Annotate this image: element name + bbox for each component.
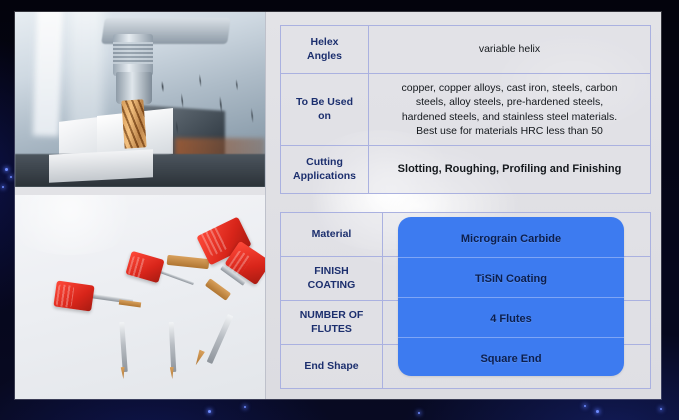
row-value-number-of-flutes: 4 Flutes xyxy=(398,297,624,341)
end-mill-cutting-tip xyxy=(193,349,205,366)
spec-column: Helex Angles variable helix To Be Used o… xyxy=(266,12,661,399)
row-value-cutting-applications: Slotting, Roughing, Profiling and Finish… xyxy=(369,146,651,194)
sparkle-decoration xyxy=(2,186,4,188)
row-label-to-be-used-on: To Be Used on xyxy=(281,74,369,146)
end-mill-cap-ribs xyxy=(56,284,75,308)
helix-spec-table: Helex Angles variable helix To Be Used o… xyxy=(280,25,651,194)
sparkle-decoration xyxy=(660,408,662,410)
end-mill-product-photo xyxy=(15,195,265,399)
row-value-end-shape: Square End xyxy=(398,337,624,381)
row-value-to-be-used-on: copper, copper alloys, cast iron, steels… xyxy=(369,74,651,146)
sparkle-decoration xyxy=(244,406,246,408)
table-row: To Be Used on copper, copper alloys, cas… xyxy=(281,74,651,146)
workpiece-clamp xyxy=(49,149,153,182)
row-label-material: Material xyxy=(281,213,383,257)
table-row: Helex Angles variable helix xyxy=(281,26,651,74)
end-mill-shank xyxy=(207,314,234,364)
machine-spindle-rings xyxy=(113,42,153,64)
row-label-number-of-flutes: NUMBER OF FLUTES xyxy=(281,301,383,345)
photo-highlight xyxy=(33,12,64,136)
end-mill-shank xyxy=(169,322,177,372)
table-row: Cutting Applications Slotting, Roughing,… xyxy=(281,146,651,194)
end-mill-shank xyxy=(119,322,127,372)
sparkle-decoration xyxy=(208,410,211,413)
metal-chips xyxy=(148,66,265,148)
row-value-helix-angles: variable helix xyxy=(369,26,651,74)
photo-column xyxy=(15,12,265,399)
screenshot-root: Helex Angles variable helix To Be Used o… xyxy=(0,0,679,420)
end-mill-cutting-tip xyxy=(205,278,231,301)
end-mill-cutting-tip xyxy=(167,255,210,269)
end-mill-cutting-tip xyxy=(119,299,141,307)
end-mill-flutes xyxy=(121,99,146,148)
row-label-helix-angles: Helex Angles xyxy=(281,26,369,74)
row-label-cutting-applications: Cutting Applications xyxy=(281,146,369,194)
content-panel: Helex Angles variable helix To Be Used o… xyxy=(15,12,661,399)
sparkle-decoration xyxy=(584,405,586,407)
photo-sheen xyxy=(15,195,145,255)
row-label-end-shape: End Shape xyxy=(281,345,383,389)
sparkle-decoration xyxy=(596,410,599,413)
cnc-machining-photo xyxy=(15,12,265,187)
row-label-finish-coating: FINISH COATING xyxy=(281,257,383,301)
sparkle-decoration xyxy=(418,412,420,414)
sparkle-decoration xyxy=(10,176,12,178)
row-value-material: Micrograin Carbide xyxy=(398,217,624,261)
row-value-finish-coating: TiSiN Coating xyxy=(398,257,624,301)
sparkle-decoration xyxy=(5,168,8,171)
